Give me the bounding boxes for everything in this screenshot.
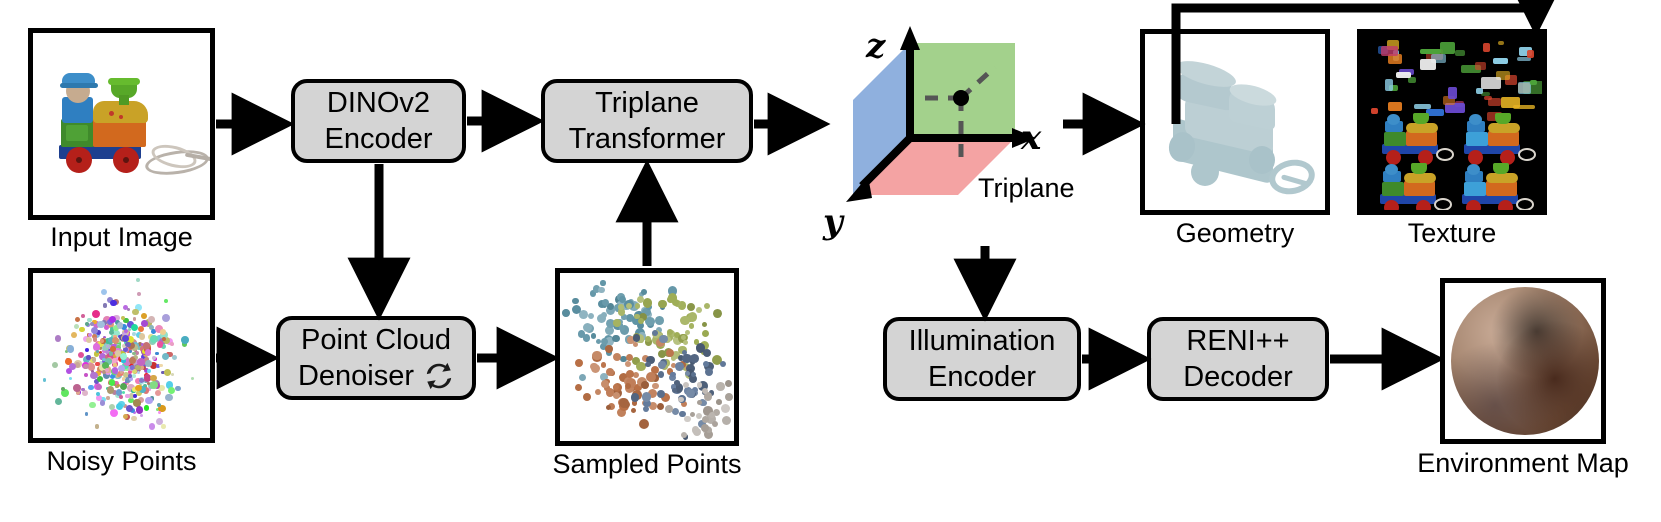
geometry-mesh xyxy=(1145,34,1325,210)
box-reni-line-1: RENI++ xyxy=(1186,323,1289,359)
box-triplane-transformer-line-1: Triplane xyxy=(595,85,699,121)
loop-icon xyxy=(424,361,454,391)
axis-label-x: x xyxy=(1021,118,1041,158)
axis-label-z: z xyxy=(866,26,885,66)
panel-input-image xyxy=(28,28,215,220)
triplane-label: Triplane xyxy=(978,173,1075,204)
toy-train-photo xyxy=(33,33,210,215)
pipeline-diagram: Input Image Noisy Points Sampled Points … xyxy=(0,0,1661,522)
panel-noisy-points xyxy=(28,268,215,443)
panel-label-texture: Texture xyxy=(1357,218,1547,248)
box-triplane-transformer-line-2: Transformer xyxy=(569,121,726,157)
noisy-point-cloud xyxy=(33,273,210,438)
panel-label-input-image: Input Image xyxy=(28,222,215,252)
box-reni-decoder[interactable]: RENI++ Decoder xyxy=(1147,317,1329,401)
box-dinov2-line-2: Encoder xyxy=(324,121,432,157)
panel-environment-map xyxy=(1440,278,1606,444)
panel-sampled-points xyxy=(555,268,739,446)
box-denoiser-line-1: Point Cloud xyxy=(301,322,451,358)
panel-geometry xyxy=(1140,29,1330,215)
texture-multiview-grid xyxy=(1362,34,1542,210)
panel-label-sampled-points: Sampled Points xyxy=(547,449,747,479)
box-dinov2-line-1: DINOv2 xyxy=(327,85,430,121)
box-illumination-line-1: Illumination xyxy=(909,323,1056,359)
lighting-probe-sphere xyxy=(1451,287,1599,435)
axis-label-y: y xyxy=(823,202,843,242)
box-reni-line-2: Decoder xyxy=(1183,359,1293,395)
box-illumination-encoder[interactable]: Illumination Encoder xyxy=(883,317,1081,401)
box-dinov2-encoder[interactable]: DINOv2 Encoder xyxy=(291,79,466,163)
box-denoiser-line-2: Denoiser xyxy=(298,358,414,394)
box-triplane-transformer[interactable]: Triplane Transformer xyxy=(541,79,753,163)
panel-texture xyxy=(1357,29,1547,215)
triplane-sample-point xyxy=(953,90,969,106)
box-illumination-line-2: Encoder xyxy=(928,359,1036,395)
panel-label-environment-map: Environment Map xyxy=(1390,448,1656,478)
panel-label-geometry: Geometry xyxy=(1140,218,1330,248)
box-point-cloud-denoiser[interactable]: Point Cloud Denoiser xyxy=(276,316,476,400)
sampled-point-cloud xyxy=(560,273,734,441)
panel-label-noisy-points: Noisy Points xyxy=(28,446,215,476)
